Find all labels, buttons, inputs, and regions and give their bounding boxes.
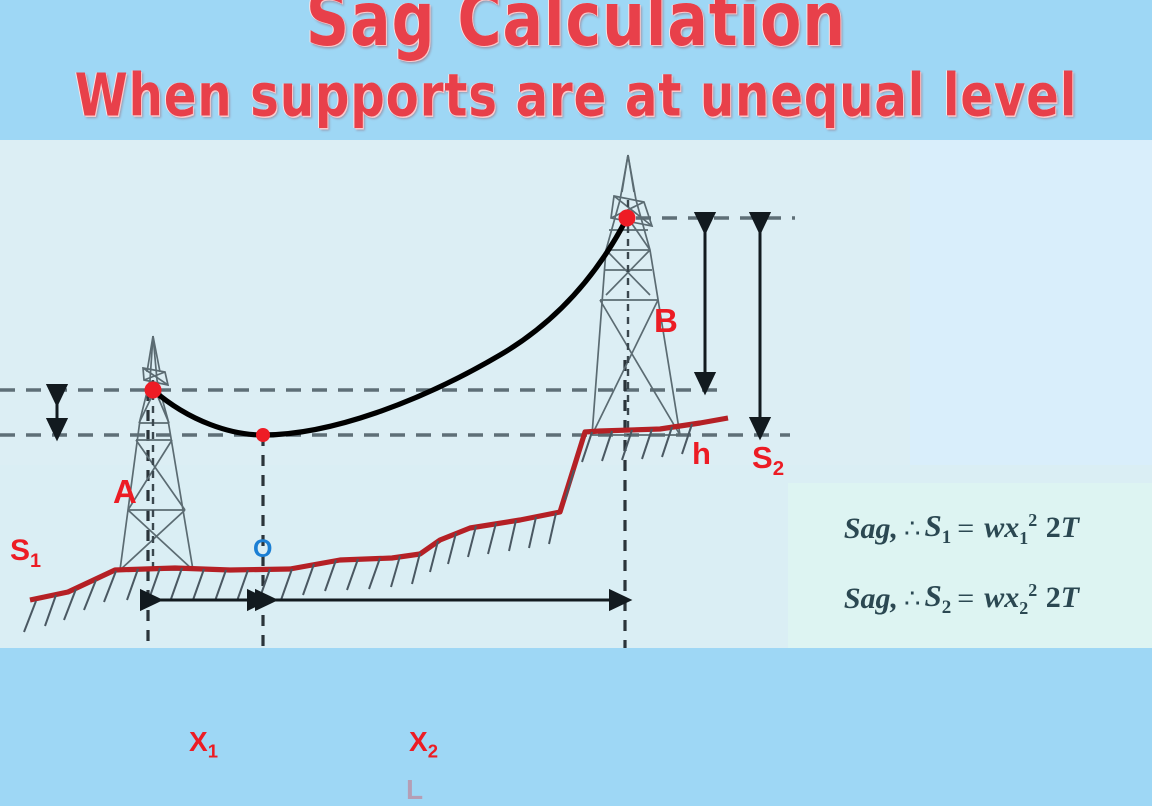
- formula-2-denominator-coefficient: 2: [1046, 581, 1061, 614]
- label-support-a: A: [113, 473, 137, 511]
- conductor-curve: [153, 218, 627, 435]
- point-o-marker: [256, 428, 270, 442]
- title-banner: Sag Calculation When supports are at une…: [0, 0, 1152, 140]
- formula-2-numerator: wx22: [980, 581, 1041, 614]
- formula-2-numerator-subscript: 2: [1019, 598, 1028, 618]
- formula-1-therefore-symbol: ∴: [904, 514, 925, 544]
- formula-panel: Sag, ∴ S1 = wx12 2T Sag, ∴ S2 = wx22 2T: [788, 483, 1152, 648]
- formula-2-lhs: S2: [925, 578, 952, 619]
- point-a-marker: [145, 382, 162, 399]
- formula-1-numerator-base: wx: [984, 511, 1019, 544]
- label-sag-1-base: S: [10, 534, 30, 567]
- label-support-b: B: [654, 302, 678, 340]
- formula-row-sag-2: Sag, ∴ S2 = wx22 2T: [788, 563, 1152, 635]
- formula-1-numerator-exponent: 2: [1028, 510, 1037, 530]
- page-subtitle: When supports are at unequal level: [0, 62, 1152, 130]
- formula-2-denominator: 2T: [1046, 581, 1079, 614]
- label-distance-1: X1: [189, 726, 218, 763]
- formula-2-numerator-exponent: 2: [1028, 580, 1037, 600]
- transmission-tower-b: [592, 155, 680, 435]
- label-sag-2-subscript: 2: [773, 457, 784, 480]
- label-distance-2-base: X: [409, 726, 428, 757]
- formula-2-lhs-subscript: 2: [942, 598, 952, 619]
- formula-2-fraction: wx22 2T: [980, 581, 1079, 618]
- formula-1-denominator-coefficient: 2: [1046, 511, 1061, 544]
- label-distance-2: X2: [409, 726, 438, 763]
- formula-1-denominator: 2T: [1046, 511, 1079, 544]
- label-distance-1-base: X: [189, 726, 208, 757]
- transmission-tower-a: [120, 336, 193, 570]
- label-sag-1-subscript: 1: [30, 550, 41, 572]
- formula-2-label: Sag,: [788, 582, 904, 616]
- vertical-reference-lines: [148, 360, 625, 648]
- label-span-l: L: [406, 774, 423, 806]
- label-sag-2-base: S: [752, 440, 773, 475]
- formula-1-lhs-subscript: 1: [942, 528, 952, 549]
- formula-2-numerator-base: wx: [984, 581, 1019, 614]
- label-height-difference: h: [692, 436, 711, 472]
- formula-2-equals: =: [951, 582, 980, 616]
- formula-row-sag-1: Sag, ∴ S1 = wx12 2T: [788, 493, 1152, 565]
- point-b-marker: [619, 210, 636, 227]
- formula-1-equals: =: [951, 512, 980, 546]
- formula-2-therefore-symbol: ∴: [904, 584, 925, 614]
- formula-1-lhs-base: S: [925, 508, 942, 543]
- formula-2-lhs-base: S: [925, 578, 942, 613]
- page-title: Sag Calculation: [0, 0, 1152, 64]
- formula-1-label: Sag,: [788, 512, 904, 546]
- formula-1-numerator-subscript: 1: [1019, 528, 1028, 548]
- formula-2-denominator-variable: T: [1061, 581, 1079, 614]
- formula-1-fraction: wx12 2T: [980, 511, 1079, 548]
- formula-1-denominator-variable: T: [1061, 511, 1079, 544]
- label-lowest-point-o: O: [253, 535, 272, 564]
- formula-1-numerator: wx12: [980, 511, 1041, 544]
- formula-1-lhs: S1: [925, 508, 952, 549]
- label-distance-2-subscript: 2: [428, 741, 438, 762]
- label-distance-1-subscript: 1: [208, 741, 218, 762]
- label-sag-1: S1: [10, 534, 41, 573]
- label-sag-2: S2: [752, 440, 784, 481]
